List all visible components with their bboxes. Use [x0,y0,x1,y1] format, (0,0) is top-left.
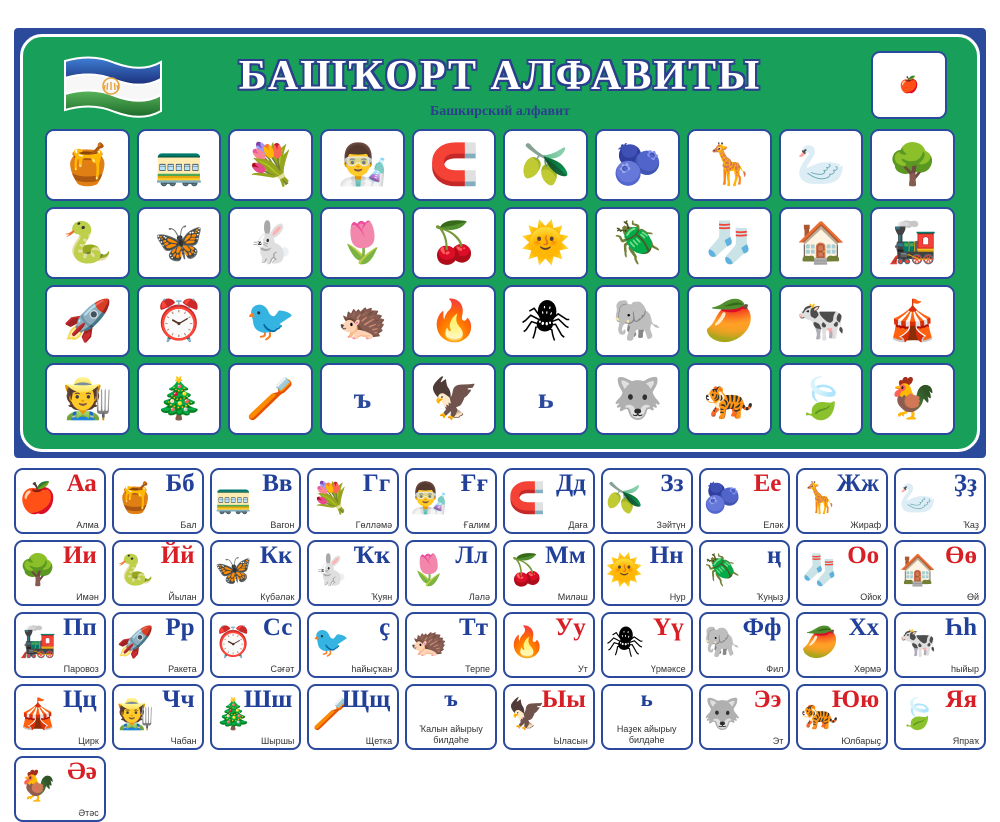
letter-ge: 💐ГгГөлләмә [307,468,399,534]
letter-glyph: Чч [162,687,194,713]
letter-glyph: Өө [945,543,977,569]
word-caption: Гөлләмә [356,520,393,530]
letter-glyph: Үү [653,615,684,641]
letter-glyph: Ээ [754,687,782,713]
letter-glyph: Нн [650,543,684,569]
letter-glyph: Мм [545,543,586,569]
poster-green-panel: БАШҠОРТ АЛФАВИТЫ Башкирский алфавит 🍎 🍯🚃… [20,34,980,452]
rowan-card: 🍒 [412,207,497,279]
letter-yery: 🦅ЫыЫласын [503,684,595,750]
word-picture-icon: 🦅 [508,700,545,730]
olive-card: 🫒 [503,129,588,201]
word-caption: Нур [670,592,686,602]
letter-el: 🌷ЛлЛәлә [405,540,497,606]
letter-glyph: Уу [555,615,586,641]
letter-glyph: Вв [262,471,292,497]
shepherd-card: 🧑‍🌾 [45,363,130,435]
picture-icon: 🏠 [796,223,846,263]
clock-card: ⏰ [137,285,222,357]
word-caption: Ыласын [554,736,588,746]
picture-icon: 👨‍🔬 [338,145,388,185]
word-caption: Шыршы [261,736,294,746]
bouquet-card: 💐 [228,129,313,201]
word-picture-icon: ⏰ [215,628,252,658]
letter-es: ⏰СсСәғәт [210,612,302,678]
word-caption: Әтәс [78,808,98,818]
word-picture-icon: 🐓 [19,772,56,802]
letter-u: 🔥УуУт [503,612,595,678]
alphabet-poster: БАШҠОРТ АЛФАВИТЫ Башкирский алфавит 🍎 🍯🚃… [14,28,986,458]
letter-glyph: Пп [63,615,97,641]
picture-icon: 🔥 [429,301,479,341]
letter-glyph: Йй [161,543,195,569]
letter-pe: 🚂ПпПаровоз [14,612,106,678]
letter-glyph: ң [767,543,781,569]
word-picture-icon: 🚀 [117,628,154,658]
poster-title-block: БАШҠОРТ АЛФАВИТЫ Башкирский алфавит [239,54,762,120]
word-caption: Цирк [78,736,99,746]
sign-glyph: ъ [354,382,372,416]
word-picture-icon: 🚃 [215,484,252,514]
letter-ef: 🐘ФфФил [699,612,791,678]
letter-glyph: Ҡҡ [354,543,390,569]
word-caption: Щетка [366,736,392,746]
word-caption: Юлбарыҫ [841,736,881,746]
word-picture-icon: 🐄 [899,628,936,658]
falcon-card: 🦅 [412,363,497,435]
letter-tse: 🎪ЦцЦирк [14,684,106,750]
word-picture-icon: 👨‍🔬 [410,484,447,514]
word-picture-icon: 🐦 [312,628,349,658]
apple-icon: 🍎 [899,75,919,95]
tiger-card: 🐅 [687,363,772,435]
letter-shcha: 🪥ЩщЩетка [307,684,399,750]
letter-glyph: Шш [244,687,293,713]
letter-ue: 🕷ҮүҮрмәксе [601,612,693,678]
picture-icon: 🦋 [154,223,204,263]
letter-ye: 🫐ЕеЕләк [699,468,791,534]
letter-eng: 🪲ңҠуңыҙ [699,540,791,606]
word-caption: Фил [766,664,783,674]
word-caption: һыйыр [951,664,979,674]
word-picture-icon: 🏠 [899,556,936,586]
word-caption: Ойок [860,592,881,602]
picture-icon: 🎪 [888,301,938,341]
word-picture-icon: 🧦 [801,556,838,586]
letter-glyph: Аа [67,471,97,497]
word-caption: Ғалим [464,520,490,530]
word-picture-icon: 🫒 [606,484,643,514]
picture-icon: 🐍 [62,223,112,263]
letter-glyph: Бб [166,471,195,497]
letter-o: 🧦ОоОйок [796,540,888,606]
letter-ha: 🥭ХхХөрмә [796,612,888,678]
snake-card: 🐍 [45,207,130,279]
hard-sign-card: ъ [320,363,405,435]
letter-ve: 🚃ВвВагон [210,468,302,534]
letter-glyph: Оо [847,543,879,569]
word-caption: Вагон [270,520,294,530]
word-caption: Наҙек айырыу билдәһе [603,724,691,745]
picture-icon: 🫐 [613,145,663,185]
letter-glyph: Хх [849,615,880,641]
circus-card: 🎪 [870,285,955,357]
word-caption: Даға [568,520,587,530]
letter-zhe: 🦒ЖжЖираф [796,468,888,534]
letter-er: 🚀РрРакета [112,612,204,678]
word-caption: Имән [76,592,99,602]
letter-hard-sign: ъҠалын айырыу билдәһе [405,684,497,750]
picture-icon: 🐇 [246,223,296,263]
word-picture-icon: 🪲 [704,556,741,586]
berries-card: 🫐 [595,129,680,201]
word-caption: Миләш [558,592,588,602]
giraffe-card: 🦒 [687,129,772,201]
picture-icon: 🪲 [613,223,663,263]
poster-picture-grid: 🍯🚃💐👨‍🔬🧲🫒🫐🦒🦢🌳🐍🦋🐇🌷🍒🌞🪲🧦🏠🚂🚀⏰🐦🦔🔥🕷🐘🥭🐄🎪🧑‍🌾🎄🪥ъ🦅ь… [33,129,967,435]
word-caption: Ҡалын айырыу билдәһе [407,724,495,745]
word-caption: Паровоз [64,664,99,674]
letter-glyph: Кк [260,543,293,569]
rooster-card: 🐓 [870,363,955,435]
word-caption: Ҡуңыҙ [757,592,784,602]
word-caption: Хөрмә [854,664,881,674]
word-caption: Еләк [763,520,783,530]
word-picture-icon: 🦋 [215,556,252,586]
scientist-card: 👨‍🔬 [320,129,405,201]
firtree-card: 🎄 [137,363,222,435]
word-caption: Йылан [168,592,196,602]
picture-icon: 🚃 [154,145,204,185]
letter-the: 🐦ҫһайыҫҡан [307,612,399,678]
picture-icon: 🐓 [888,379,938,419]
word-picture-icon: 🚂 [19,628,56,658]
page-subtitle: Башкирский алфавит [239,104,762,120]
cow-card: 🐄 [779,285,864,357]
picture-icon: 🦢 [796,145,846,185]
letter-hae: 🐄Һһһыйыр [894,612,986,678]
letter-sha: 🎄ШшШыршы [210,684,302,750]
word-picture-icon: 🍒 [508,556,545,586]
word-picture-icon: 🌞 [606,556,643,586]
word-caption: Зәйтүн [657,520,686,530]
letter-glyph: Тт [459,615,488,641]
letter-glyph: ь [603,687,691,711]
letter-e: 🐺ЭэЭт [699,684,791,750]
letter-ze: 🫒ЗзЗәйтүн [601,468,693,534]
letter-glyph: Ее [754,471,782,497]
word-picture-icon: 🫐 [704,484,741,514]
letter-en: 🌞НнНур [601,540,693,606]
picture-icon: ⏰ [154,301,204,341]
poster-header: БАШҠОРТ АЛФАВИТЫ Башкирский алфавит 🍎 [33,45,967,129]
word-caption: Үрмәксе [651,664,686,674]
beetle-card: 🪲 [595,207,680,279]
word-picture-icon: 🐺 [704,700,741,730]
picture-icon: 🦔 [338,301,388,341]
word-caption: Алма [76,520,98,530]
letter-glyph: Дд [556,471,586,497]
word-caption: һайыҫҡан [351,664,392,674]
letter-glyph: Яя [945,687,977,713]
socks-card: 🧦 [687,207,772,279]
letter-glyph: Әә [67,759,97,785]
picture-icon: 🦅 [429,379,479,419]
letter-glyph: Һһ [945,615,977,641]
letter-i: 🌳ИиИмән [14,540,106,606]
letter-glyph: ҫ [379,615,390,641]
word-picture-icon: 🥭 [801,628,838,658]
letter-soft-sign: ьНаҙек айырыу билдәһе [601,684,693,750]
picture-icon: 🐅 [704,379,754,419]
word-picture-icon: 🍯 [117,484,154,514]
dog-card: 🐺 [595,363,680,435]
word-caption: Ҡуян [371,592,392,602]
corner-apple-card: 🍎 [871,51,947,119]
letter-em: 🍒МмМиләш [503,540,595,606]
word-picture-icon: 🍎 [19,484,56,514]
elephant-card: 🐘 [595,285,680,357]
alphabet-table: 🍎АаАлма🍯БбБал🚃ВвВагон💐ГгГөлләмә👨‍🔬ҒғҒали… [14,468,986,822]
word-caption: Ләлә [469,592,490,602]
letter-short-i: 🐍ЙйЙылан [112,540,204,606]
letter-glyph: Ғғ [461,471,488,497]
letter-glyph: Фф [743,615,782,641]
word-picture-icon: 🐍 [117,556,154,586]
word-caption: Жираф [850,520,881,530]
word-picture-icon: 🦒 [801,484,838,514]
page-title: БАШҠОРТ АЛФАВИТЫ [239,54,762,98]
house-card: 🏠 [779,207,864,279]
word-caption: Эт [773,736,784,746]
letter-a: 🍎АаАлма [14,468,106,534]
word-picture-icon: 🌳 [19,556,56,586]
picture-icon: 🦒 [704,145,754,185]
word-caption: Сәғәт [270,664,294,674]
goose-card: 🦢 [779,129,864,201]
letter-yu: 🐅ЮюЮлбарыҫ [796,684,888,750]
letter-oe: 🏠ӨөӨй [894,540,986,606]
picture-icon: 🧑‍🌾 [62,379,112,419]
letter-glyph: Ии [63,543,97,569]
picture-icon: 🕷 [520,301,571,341]
picture-icon: 🌞 [521,223,571,263]
picture-icon: 🪥 [246,379,296,419]
picture-icon: 🌳 [888,145,938,185]
magpie-card: 🐦 [228,285,313,357]
picture-icon: 🍒 [429,223,479,263]
letter-de: 🧲ДдДаға [503,468,595,534]
picture-icon: 🐄 [796,301,846,341]
soft-sign-card: ь [503,363,588,435]
word-caption: Япраҡ [953,736,979,746]
picture-icon: 🧲 [429,145,479,185]
hare-card: 🐇 [228,207,313,279]
word-caption: Ҡаҙ [963,520,979,530]
oak-card: 🌳 [870,129,955,201]
letter-qa: 🐇ҠҡҠуян [307,540,399,606]
word-caption: Ут [578,664,588,674]
word-caption: Терпе [465,664,490,674]
picture-icon: 🌷 [338,223,388,263]
letter-glyph: Жж [836,471,879,497]
word-picture-icon: 🌷 [410,556,447,586]
spider-card: 🕷 [503,285,588,357]
letter-ka: 🦋КкКүбәләк [210,540,302,606]
picture-icon: 🐺 [613,379,663,419]
butterfly-card: 🦋 [137,207,222,279]
leaf-card: 🍃 [779,363,864,435]
letter-glyph: Щщ [342,687,391,713]
brush-card: 🪥 [228,363,313,435]
letter-glyph: Ыы [542,687,586,713]
word-caption: Чабан [171,736,197,746]
letter-glyph: Лл [455,543,488,569]
picture-icon: 🚂 [888,223,938,263]
word-caption: Ракета [168,664,196,674]
word-caption: Бал [180,520,196,530]
picture-icon: 💐 [246,145,296,185]
letter-glyph: Зз [660,471,683,497]
picture-icon: 🎄 [154,379,204,419]
tulip-card: 🌷 [320,207,405,279]
letter-glyph: Сс [263,615,292,641]
letter-be: 🍯БбБал [112,468,204,534]
letter-te: 🦔ТтТерпе [405,612,497,678]
letter-glyph: Рр [165,615,194,641]
word-picture-icon: 🧑‍🌾 [117,700,154,730]
word-caption: Күбәләк [260,592,294,602]
word-picture-icon: 🦔 [410,628,447,658]
picture-icon: 🫒 [521,145,571,185]
persimmon-card: 🥭 [687,285,772,357]
word-picture-icon: 🦢 [899,484,936,514]
letter-glyph: Юю [832,687,879,713]
sunray-card: 🌞 [503,207,588,279]
bashkortostan-flag-icon [59,53,167,119]
letter-che: 🧑‍🌾ЧчЧабан [112,684,204,750]
letter-ghe: 👨‍🔬ҒғҒалим [405,468,497,534]
rocket-card: 🚀 [45,285,130,357]
railcar-card: 🚃 [137,129,222,201]
letter-glyph: Ҙҙ [954,471,977,497]
word-caption: Өй [967,592,979,602]
picture-icon: 🚀 [62,301,112,341]
word-picture-icon: 🐘 [704,628,741,658]
letter-ae: 🐓ӘәӘтәс [14,756,106,822]
honey-card: 🍯 [45,129,130,201]
word-picture-icon: 🐇 [312,556,349,586]
letter-glyph: Цц [63,687,97,713]
picture-icon: 🥭 [704,301,754,341]
word-picture-icon: 🍃 [899,700,936,730]
word-picture-icon: 🎪 [19,700,56,730]
hedgehog-card: 🦔 [320,285,405,357]
locomotive-card: 🚂 [870,207,955,279]
picture-icon: 🧦 [704,223,754,263]
letter-dhe: 🦢ҘҙҠаҙ [894,468,986,534]
letter-ya: 🍃ЯяЯпраҡ [894,684,986,750]
word-picture-icon: 🔥 [508,628,545,658]
word-picture-icon: 🧲 [508,484,545,514]
picture-icon: 🍃 [796,379,846,419]
fire-card: 🔥 [412,285,497,357]
horseshoe-card: 🧲 [412,129,497,201]
picture-icon: 🐘 [613,301,663,341]
word-picture-icon: 💐 [312,484,349,514]
letter-glyph: ъ [407,687,495,711]
picture-icon: 🍯 [62,145,112,185]
sign-glyph: ь [538,382,554,416]
word-picture-icon: 🕷 [606,628,644,658]
picture-icon: 🐦 [246,301,296,341]
letter-glyph: Гг [363,471,390,497]
